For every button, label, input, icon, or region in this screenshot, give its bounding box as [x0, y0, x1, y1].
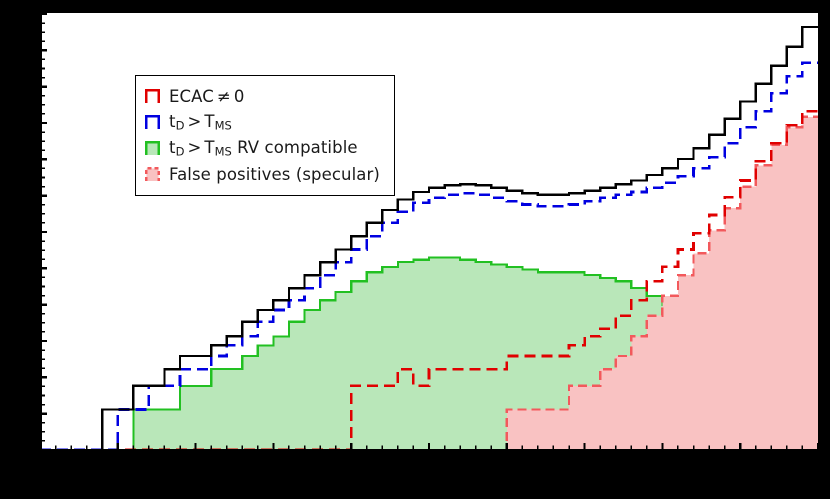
- legend-item-td-tms-rv: tD>TMS RV compatible: [145, 135, 380, 161]
- legend-label-false-positives: False positives (specular): [169, 165, 380, 184]
- legend-key-false-positives-icon: [145, 167, 160, 182]
- legend-key-td-tms-rv-icon: [145, 141, 160, 156]
- y-axis-ticks: [41, 14, 47, 450]
- figure-canvas: ECAC≠0 tD>TMS tD>TMS RV compatible: [0, 0, 830, 499]
- legend-key-td-tms-icon: [145, 115, 160, 130]
- legend-label-td-tms-rv: tD>TMS RV compatible: [169, 138, 358, 159]
- legend: ECAC≠0 tD>TMS tD>TMS RV compatible: [135, 75, 395, 196]
- legend-label-td-tms: tD>TMS: [169, 112, 232, 133]
- legend-item-td-tms: tD>TMS: [145, 109, 380, 135]
- legend-item-false-positives: False positives (specular): [145, 161, 380, 187]
- legend-item-ecac: ECAC≠0: [145, 83, 380, 109]
- legend-key-ecac-icon: [145, 89, 160, 104]
- legend-label-ecac: ECAC≠0: [169, 87, 244, 106]
